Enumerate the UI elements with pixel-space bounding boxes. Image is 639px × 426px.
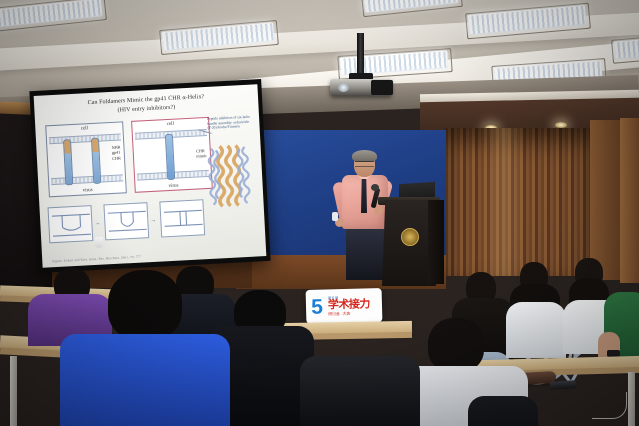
wood-wall-panel-far-right [620,118,639,283]
list-item [300,356,420,426]
slide-title: Can Foldamers Mimic the gp41 CHR α-Helix… [41,91,252,119]
mechanism-step-2 [103,202,149,240]
placard-sub-text: 研讨会 · 大会 [328,310,380,317]
slide-mechanism-row: → → [48,199,210,247]
presentation-clicker [332,212,338,221]
annot-chr: CHR [112,155,121,160]
panel-right-virus-label: virus [135,182,211,191]
audience-head [108,270,182,340]
panel-left-annotation: NHR gp41 CHR [111,145,121,161]
audience-shoulder-foreground [300,356,420,426]
mechanism-step-3 [159,199,205,237]
list-item [60,328,230,426]
slide-callout-text: Peptide inhibitors of six-helix bundle a… [207,115,252,131]
charging-cable [592,392,627,419]
placard-text-block: 第五届 学术接力 研讨会 · 大会 [328,294,383,317]
podium-emblem-icon [401,228,419,246]
microphone-head-icon [371,184,379,191]
paper-cup [95,237,103,248]
six-helix-bundle-figure [204,143,253,209]
projector-lens-icon [338,83,349,92]
projection-screen: Can Foldamers Mimic the gp41 CHR α-Helix… [34,84,267,267]
panel-left-virus-label: virus [50,186,126,195]
curtain-highlight [480,128,526,276]
presentation-slide: Can Foldamers Mimic the gp41 CHR α-Helix… [34,84,267,267]
gp41-spike [91,138,101,184]
chr-mimic-spike [165,134,175,180]
desk-leg [10,356,17,426]
diagram-panel-left: cell NHR gp41 CHR virus [45,121,127,197]
audience-bag-dark [468,396,538,426]
mechanism-step-1 [48,205,94,243]
diagram-panel-right: cell CHR mimic virus [131,117,213,193]
speaker-trousers [346,226,384,280]
lecture-hall-photo: Can Foldamers Mimic the gp41 CHR α-Helix… [0,0,639,426]
mechanism-arrow: → [94,221,100,227]
podium-side-panel [428,200,444,284]
eyeglasses-icon [355,161,374,167]
virus-membrane [51,174,123,185]
slide-citation: Figure: Eckert and Kim, Annu. Rev. Bioch… [52,255,141,264]
panel-left-cell-label: cell [46,122,122,133]
speaker-necktie [361,179,367,213]
mechanism-arrow: → [150,218,156,224]
speaker-right-hand [374,206,383,215]
event-placard: 5 第五届 学术接力 研讨会 · 大会 [306,288,383,324]
cell-membrane [49,133,121,144]
gp41-spike [63,139,73,185]
projector-rear-housing [371,80,393,95]
ceiling-light [613,38,639,59]
panel-right-cell-label: cell [132,118,208,129]
audience-shirt-blue [60,334,230,426]
desk-leg [628,372,635,426]
audience-head [428,318,484,372]
projection-screen-frame: Can Foldamers Mimic the gp41 CHR α-Helix… [29,79,270,273]
